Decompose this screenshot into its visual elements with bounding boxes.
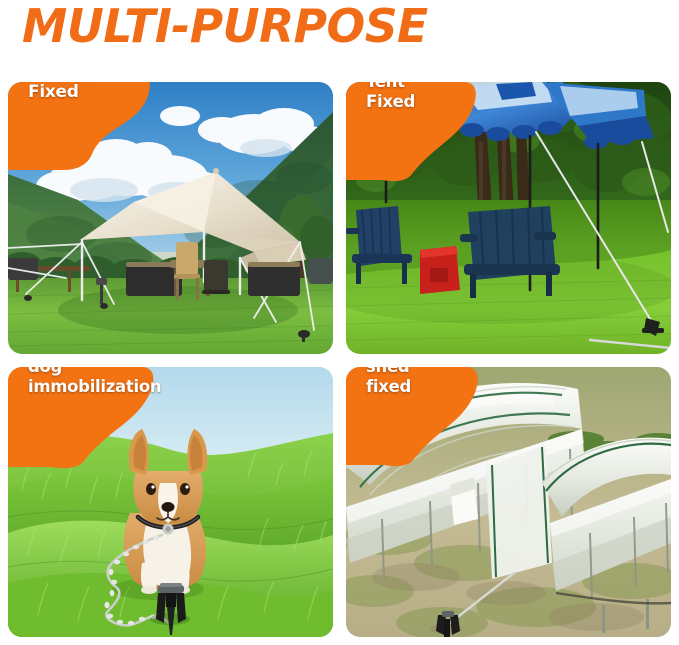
- use-case-grid: Canopy Fixed: [8, 82, 671, 637]
- panel-canopy-fixed[interactable]: Canopy Fixed: [8, 82, 333, 354]
- panel-temporary-dog-immobilization[interactable]: Temporary dog immobilization: [8, 367, 333, 637]
- badge-label: Camping Tent Fixed: [366, 82, 445, 112]
- panel-vegetable-shed-fixed[interactable]: Vegetable shed fixed: [346, 367, 671, 637]
- panel-camping-tent-fixed[interactable]: Camping Tent Fixed: [346, 82, 671, 354]
- badge-label: Vegetable shed fixed: [366, 367, 457, 397]
- badge-label: Temporary dog immobilization: [28, 367, 161, 397]
- page-title: MULTI-PURPOSE: [22, 0, 428, 54]
- multi-purpose-infographic: MULTI-PURPOSE: [0, 0, 679, 645]
- badge-label: Canopy Fixed: [28, 82, 97, 102]
